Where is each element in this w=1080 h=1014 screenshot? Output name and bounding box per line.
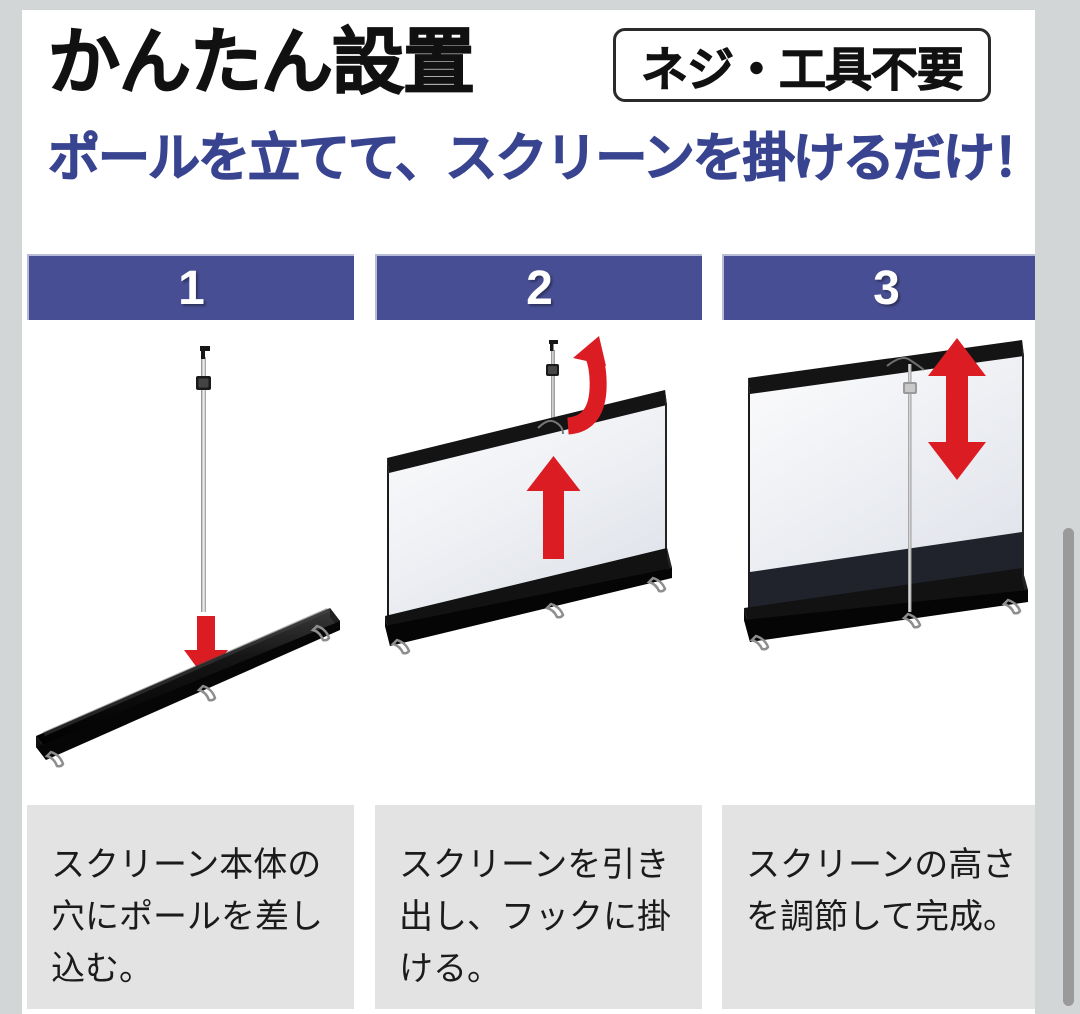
step-caption-box-1: スクリーン本体の穴にポールを差し込む。 xyxy=(27,805,354,1009)
step-header-3: 3 xyxy=(722,254,1035,320)
step-caption-1: スクリーン本体の穴にポールを差し込む。 xyxy=(51,839,336,995)
screen-case-bar xyxy=(36,608,340,766)
vertical-scrollbar-track[interactable] xyxy=(1058,0,1080,1014)
projector-screen xyxy=(385,390,672,653)
feature-badge-label: ネジ・工具不要 xyxy=(616,31,988,99)
step-column-2: 2 xyxy=(375,246,702,1014)
projector-screen xyxy=(744,340,1028,649)
step-column-1: 1 xyxy=(27,246,354,1014)
step-header-1: 1 xyxy=(27,254,354,320)
step-caption-3: スクリーンの高さを調節して完成。 xyxy=(746,839,1031,943)
step-illustration-2 xyxy=(375,332,702,794)
step-header-2: 2 xyxy=(375,254,702,320)
vertical-scrollbar-thumb[interactable] xyxy=(1063,528,1074,1006)
product-info-page: かんたん設置 ネジ・工具不要 ポールを立てて、スクリーンを掛けるだけ！ 1 xyxy=(22,10,1035,1014)
step-number-2: 2 xyxy=(377,256,702,320)
steps-container: 1 xyxy=(22,246,1035,1014)
header: かんたん設置 ネジ・工具不要 xyxy=(48,18,1008,114)
page-title: かんたん設置 xyxy=(48,18,474,108)
page-subtitle: ポールを立てて、スクリーンを掛けるだけ！ xyxy=(48,128,1028,190)
step-caption-box-3: スクリーンの高さを調節して完成。 xyxy=(722,805,1035,1009)
step-illustration-1 xyxy=(27,332,354,794)
step-column-3: 3 xyxy=(722,246,1035,1014)
step-number-1: 1 xyxy=(29,256,354,320)
step-caption-box-2: スクリーンを引き出し、フックに掛ける。 xyxy=(375,805,702,1009)
step-number-3: 3 xyxy=(724,256,1035,320)
feature-badge: ネジ・工具不要 xyxy=(613,28,991,102)
step-illustration-3 xyxy=(722,332,1035,794)
step-caption-2: スクリーンを引き出し、フックに掛ける。 xyxy=(399,839,684,995)
